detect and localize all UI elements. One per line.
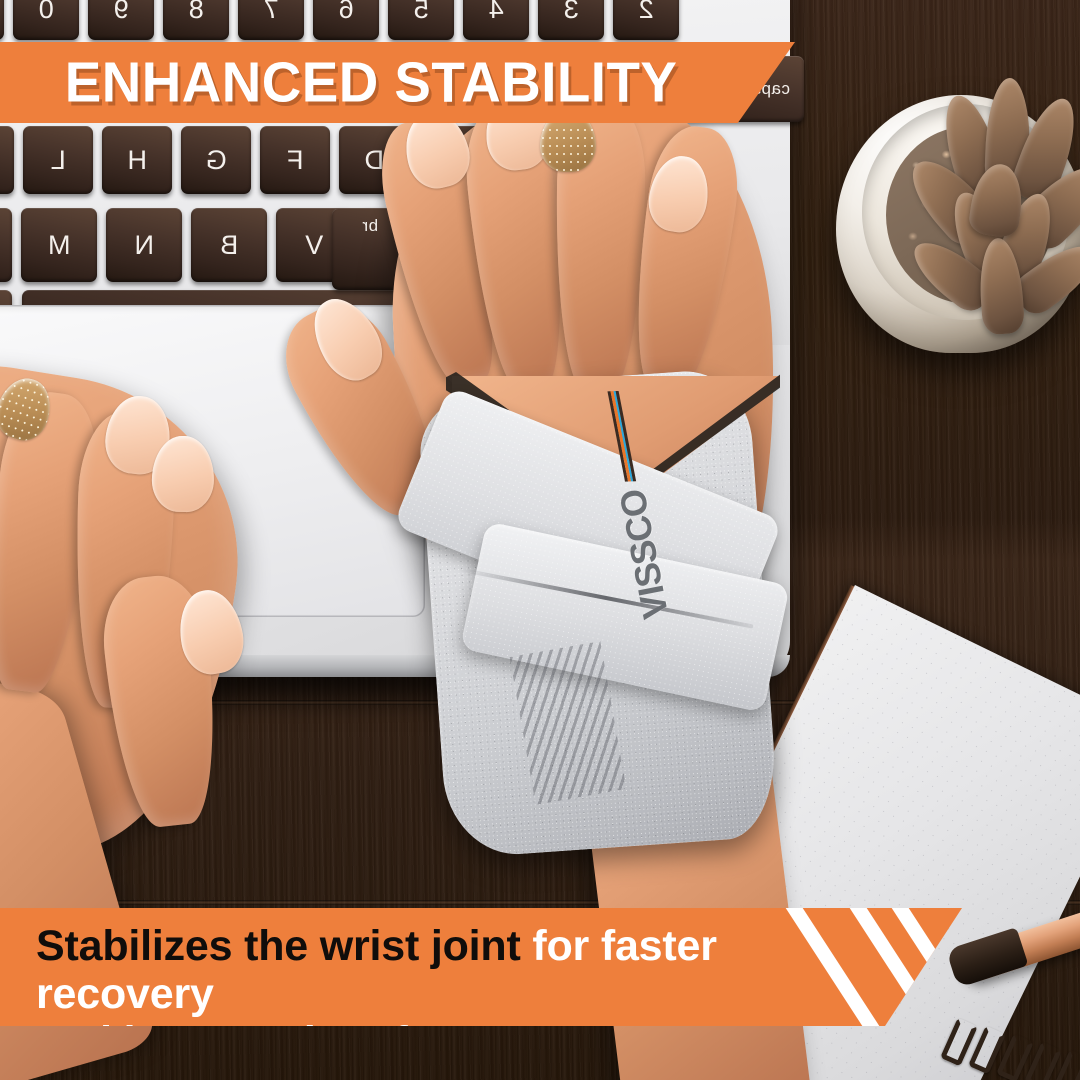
headline-text: ENHANCED STABILITY: [65, 54, 678, 111]
caption-text: Stabilizes the wrist joint for faster re…: [36, 922, 866, 1026]
keyboard-key[interactable]: 2: [613, 0, 679, 40]
keyboard-key[interactable]: 4: [463, 0, 529, 40]
keyboard-key[interactable]: F: [260, 126, 330, 194]
keyboard-key[interactable]: 3: [538, 0, 604, 40]
product-banner-image: P 0 9 8 7 6 5 4 3 2 O I U Y T R E W: [0, 0, 1080, 1080]
top-headline-banner: ENHANCED STABILITY: [0, 42, 795, 123]
keyboard-key[interactable]: L: [23, 126, 93, 194]
keyboard-key[interactable]: >: [0, 208, 12, 282]
keyboard-key[interactable]: G: [181, 126, 251, 194]
keyboard-key[interactable]: 8: [163, 0, 229, 40]
keyboard-key[interactable]: P: [0, 0, 4, 40]
keyboard-key[interactable]: 5: [388, 0, 454, 40]
keyboard-key[interactable]: B: [191, 208, 267, 282]
keyboard-key[interactable]: H: [102, 126, 172, 194]
keyboard-key[interactable]: 6: [313, 0, 379, 40]
notebook-spiral-binding: [948, 1016, 1080, 1080]
caption-emphasis: Stabilizes the wrist joint: [36, 922, 521, 970]
keyboard-key[interactable]: M: [21, 208, 97, 282]
bottom-caption-banner: Stabilizes the wrist joint for faster re…: [0, 908, 962, 1026]
succulent-plant: [900, 60, 1080, 360]
keyboard-key[interactable]: K: [0, 126, 14, 194]
keyboard-key[interactable]: N: [106, 208, 182, 282]
keyboard-key[interactable]: 9: [88, 0, 154, 40]
vissco-logo-accent-bar: [607, 391, 636, 482]
keyboard-key[interactable]: 7: [238, 0, 304, 40]
keyboard-key[interactable]: 0: [13, 0, 79, 40]
caption-line-two: and improved performance: [36, 1018, 866, 1026]
